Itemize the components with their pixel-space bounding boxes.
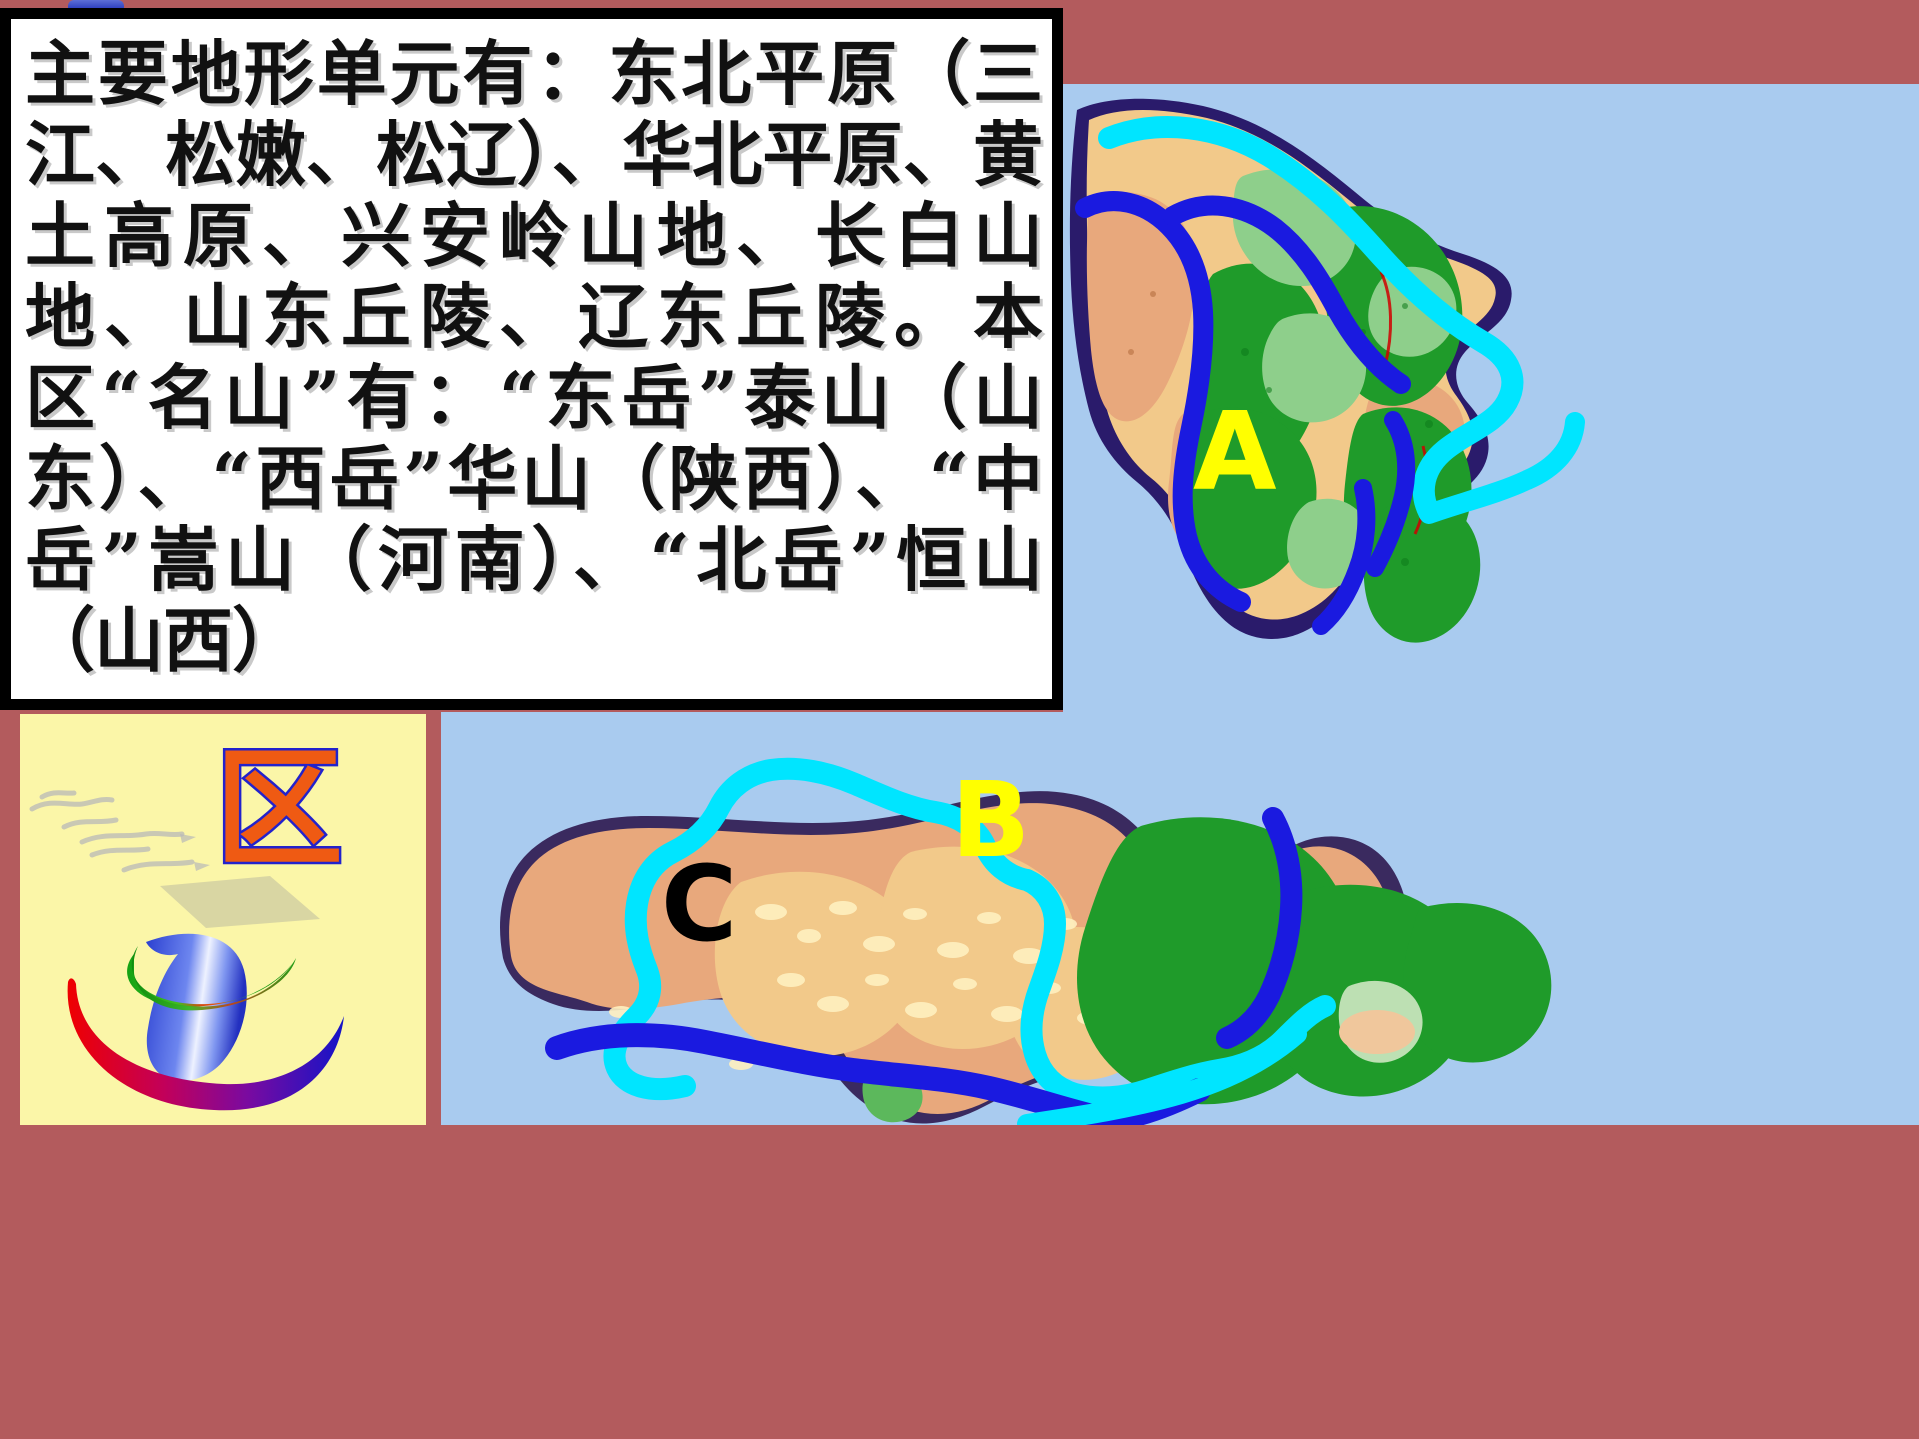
map-northeast[interactable]: A — [1063, 84, 1919, 712]
map-label-a: A — [1193, 399, 1277, 507]
slide-canvas: 主要地形单元有：东北平原（三江、松嫩、松辽）、华北平原、黄土高原、兴安岭山地、长… — [0, 0, 1919, 1439]
map-label-c: C — [661, 852, 737, 956]
qu-character-glyph: 区 — [215, 746, 343, 874]
map-northchina[interactable]: B C — [441, 712, 1919, 1125]
swoosh-emblem-icon — [38, 910, 426, 1125]
body-textbox[interactable]: 主要地形单元有：东北平原（三江、松嫩、松辽）、华北平原、黄土高原、兴安岭山地、长… — [0, 8, 1063, 710]
map-label-b: B — [951, 768, 1030, 872]
logo-panel: 区 — [20, 714, 426, 1125]
body-text: 主要地形单元有：东北平原（三江、松嫩、松辽）、华北平原、黄土高原、兴安岭山地、长… — [11, 19, 1052, 681]
map-northeast-graphic — [1063, 84, 1919, 712]
